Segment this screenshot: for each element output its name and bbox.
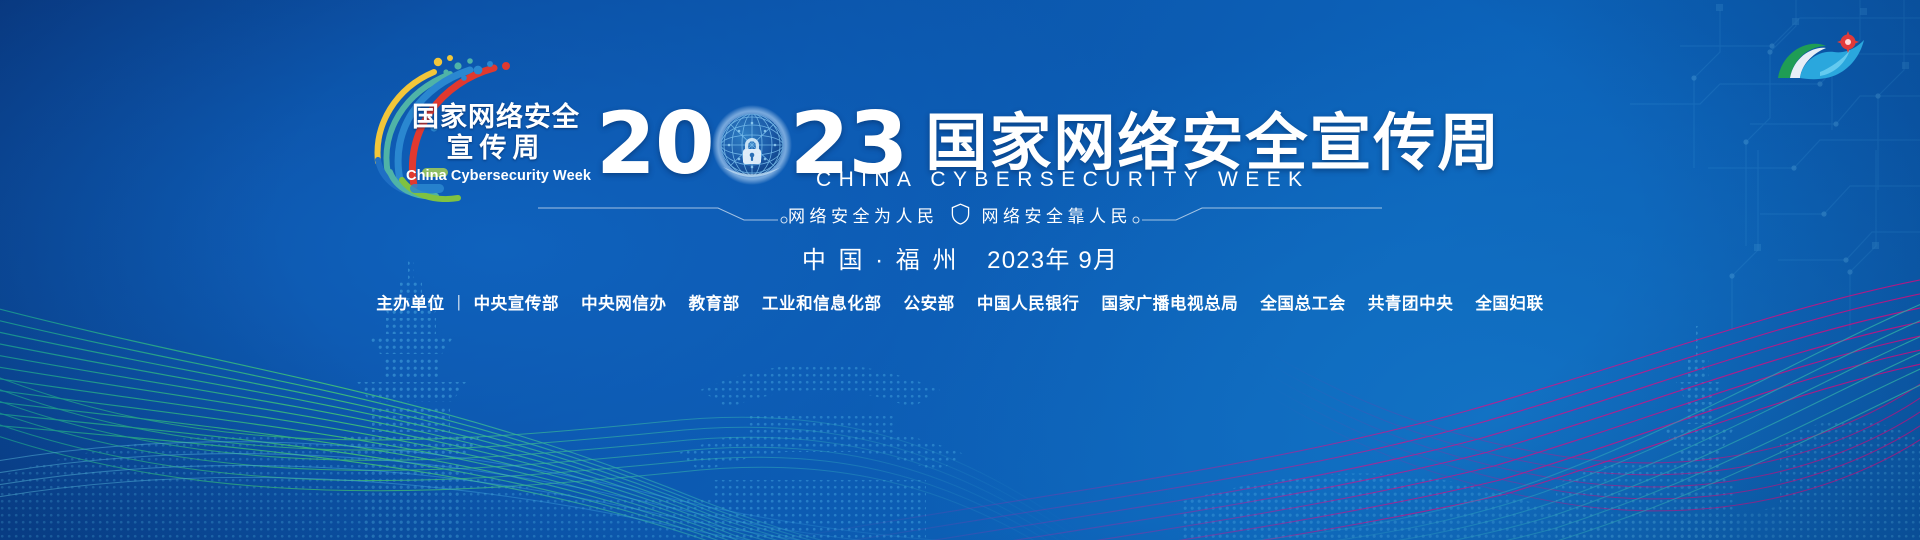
organizers-label: 主办单位 <box>376 290 444 314</box>
globe-lock-icon <box>709 101 795 187</box>
slogan-left-rule <box>538 204 788 224</box>
logo-text: 国家网络安全 宣传周 China Cybersecurity Week <box>406 104 586 184</box>
logo-line2: 宣传周 <box>406 135 586 162</box>
main-title-chinese: 国家网络安全宣传周 <box>925 113 1501 175</box>
location-text: 中 国 · 福 州 <box>802 247 960 274</box>
event-logo: 国家网络安全 宣传周 China Cybersecurity Week <box>338 52 586 202</box>
slogan-right: 网络安全靠人民 <box>982 202 1133 227</box>
slogan-row: 网络安全为人民 网络安全靠人民 <box>0 200 1920 228</box>
organizer-item: 教育部 <box>689 290 740 314</box>
organizer-item: 工业和信息化部 <box>762 290 882 314</box>
organizer-item: 公安部 <box>904 290 955 314</box>
place-date-row: 中 国 · 福 州 2023年 9月 <box>0 240 1920 275</box>
organizer-item: 全国妇联 <box>1475 290 1543 314</box>
banner-content: 国家网络安全 宣传周 China Cybersecurity Week 20 <box>0 0 1920 540</box>
organizers-row: 主办单位 | 中央宣传部 中央网信办 教育部 工业和信息化部 公安部 中国人民银… <box>0 290 1920 314</box>
organizer-item: 中国人民银行 <box>977 290 1080 314</box>
year-part1: 20 <box>596 101 714 187</box>
organizer-item: 全国总工会 <box>1260 290 1346 314</box>
organizer-item: 中央宣传部 <box>474 290 560 314</box>
date-text: 2023年 9月 <box>987 247 1118 274</box>
organizer-item: 中央网信办 <box>581 290 667 314</box>
slogan-left: 网络安全为人民 <box>788 202 939 227</box>
organizer-item: 共青团中央 <box>1368 290 1454 314</box>
shield-icon <box>951 203 970 225</box>
logo-line1: 国家网络安全 <box>406 104 586 131</box>
logo-english: China Cybersecurity Week <box>406 169 586 184</box>
slogan-right-rule <box>1132 204 1382 224</box>
fuzhou-city-emblem-icon <box>1768 22 1888 90</box>
cybersecurity-week-banner: 国家网络安全 宣传周 China Cybersecurity Week 20 <box>0 0 1920 540</box>
main-title-english: CHINA CYBERSECURITY WEEK <box>816 168 1309 192</box>
organizer-item: 国家广播电视总局 <box>1102 290 1239 314</box>
organizers-separator: | <box>457 293 462 312</box>
